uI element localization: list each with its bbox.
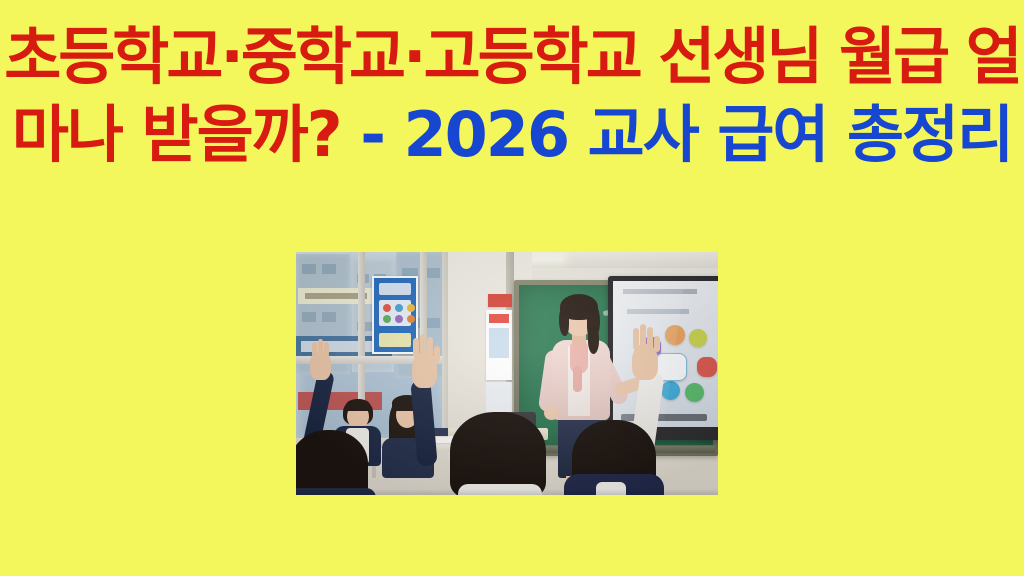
teacher-hair-left [559, 306, 569, 336]
thumbnail-canvas: 초등학교·중학교·고등학교 선생님 월급 얼 마나 받을까? - 2026 교사… [0, 0, 1024, 576]
title-line-1: 초등학교·중학교·고등학교 선생님 월급 얼 [0, 18, 1024, 96]
diagram-bubble-green [685, 383, 704, 402]
classroom-photo-inner [296, 252, 718, 495]
poster-icon-grid [379, 300, 411, 326]
wall-notice-red [488, 294, 512, 307]
poster-footer [379, 333, 411, 347]
diagram-bubble-lime [689, 329, 707, 347]
teacher-left-hand [544, 406, 559, 420]
title-block: 초등학교·중학교·고등학교 선생님 월급 얼 마나 받을까? - 2026 교사… [0, 18, 1024, 174]
teacher-ponytail [588, 328, 599, 354]
wall-notice-1 [486, 310, 512, 380]
title-line-2-segment-red: 마나 받을까? [12, 98, 341, 171]
diagram-bubble-red [697, 357, 717, 377]
window-poster [372, 276, 418, 354]
classroom-photo [296, 252, 718, 495]
teacher-scarf-tail [573, 366, 582, 392]
title-line-1-segment-red: 초등학교·중학교·고등학교 선생님 월급 얼 [4, 20, 1020, 93]
photo-bottom-shade [296, 489, 718, 495]
title-line-2: 마나 받을까? - 2026 교사 급여 총정리 [0, 96, 1024, 174]
poster-header [379, 283, 411, 295]
title-line-2-segment-blue: - 2026 교사 급여 총정리 [341, 98, 1013, 171]
